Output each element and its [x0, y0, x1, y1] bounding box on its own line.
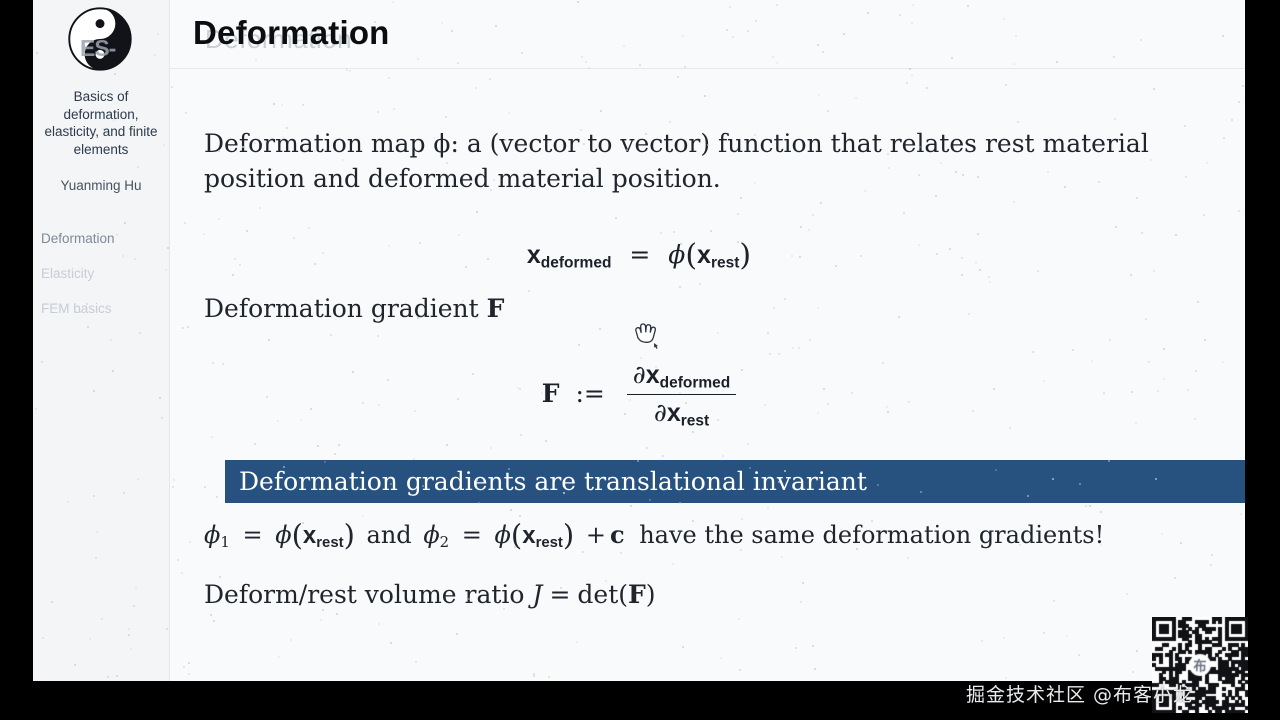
compression-speckle [800, 226, 802, 228]
compression-speckle [1009, 427, 1011, 429]
compression-speckle [377, 335, 379, 337]
compression-speckle [1109, 339, 1111, 341]
invar-eq-1: = [237, 521, 267, 549]
compression-speckle [468, 598, 470, 600]
compression-speckle [645, 133, 647, 135]
compression-speckle [588, 67, 590, 69]
compression-speckle [1161, 533, 1163, 535]
compression-speckle [935, 195, 937, 197]
compression-speckle [83, 52, 85, 54]
compression-speckle [802, 582, 804, 584]
compression-speckle [649, 499, 651, 501]
compression-speckle [378, 623, 380, 625]
compression-speckle [1003, 18, 1005, 20]
compression-speckle [79, 311, 81, 313]
compression-speckle [814, 668, 816, 670]
compression-speckle [582, 551, 584, 553]
highlight-block: Deformation gradients are translational … [225, 460, 1245, 503]
compression-speckle [776, 4, 778, 6]
compression-speckle [213, 620, 215, 622]
compression-speckle [268, 339, 270, 341]
compression-speckle [679, 392, 681, 394]
eq2-lhs: F [542, 379, 560, 408]
eq2-den-operator: ∂ [654, 398, 667, 427]
compression-speckle [378, 404, 380, 406]
compression-speckle [508, 112, 510, 114]
grab-hand-cursor-icon [629, 318, 659, 350]
compression-speckle [1085, 505, 1087, 507]
compression-speckle [96, 531, 98, 533]
compression-speckle [1066, 635, 1068, 637]
compression-speckle [695, 176, 697, 178]
compression-speckle [1242, 85, 1244, 87]
invar-constant-c: c [610, 520, 625, 549]
eq2-num-sub: deformed [660, 374, 731, 391]
gradient-symbol-F: F [487, 294, 505, 323]
compression-speckle [113, 119, 115, 121]
compression-speckle [1206, 162, 1208, 164]
compression-speckle [741, 518, 743, 520]
compression-speckle [773, 307, 775, 309]
compression-speckle [920, 491, 922, 493]
compression-speckle [680, 243, 682, 245]
compression-speckle [352, 371, 354, 373]
compression-speckle [909, 68, 911, 70]
compression-speckle [242, 146, 244, 148]
compression-speckle [812, 645, 814, 647]
compression-speckle [823, 388, 825, 390]
compression-speckle [908, 401, 910, 403]
compression-speckle [637, 460, 639, 462]
compression-speckle [851, 392, 853, 394]
compression-speckle [35, 408, 37, 410]
compression-speckle [1108, 460, 1110, 462]
compression-speckle [1153, 270, 1155, 272]
compression-speckle [1043, 632, 1045, 634]
compression-speckle [682, 35, 684, 37]
compression-speckle [286, 127, 288, 129]
eq2-fraction: ∂xdeformed ∂xrest [627, 360, 736, 431]
compression-speckle [1180, 542, 1182, 544]
compression-speckle [1089, 505, 1091, 507]
compression-speckle [911, 22, 913, 24]
compression-speckle [336, 613, 338, 615]
compression-speckle [754, 134, 756, 136]
map-symbol-1: ϕ [275, 521, 291, 549]
compression-speckle [1174, 577, 1176, 579]
compression-speckle [1100, 544, 1102, 546]
compression-speckle [377, 111, 379, 113]
compression-speckle [882, 362, 884, 364]
compression-speckle [504, 139, 506, 141]
compression-speckle [769, 353, 771, 355]
compression-speckle [419, 242, 421, 244]
compression-speckle [390, 483, 392, 485]
compression-speckle [961, 257, 963, 259]
equation-deformation-map: xdeformed = ϕ(xrest) [33, 238, 1245, 273]
compression-speckle [211, 436, 213, 438]
compression-speckle [188, 662, 190, 664]
compression-speckle [234, 258, 236, 260]
compression-speckle [187, 326, 189, 328]
compression-speckle [446, 162, 448, 164]
compression-speckle [275, 25, 277, 27]
compression-speckle [1163, 378, 1165, 380]
compression-speckle [1223, 137, 1225, 139]
compression-speckle [390, 642, 392, 644]
compression-speckle [177, 559, 179, 561]
compression-speckle [949, 248, 951, 250]
compression-speckle [273, 103, 275, 105]
compression-speckle [961, 274, 963, 276]
compression-speckle [1238, 101, 1240, 103]
compression-speckle [673, 231, 675, 233]
compression-speckle [737, 213, 739, 215]
compression-speckle [130, 648, 132, 650]
compression-speckle [583, 143, 585, 145]
compression-speckle [1053, 600, 1055, 602]
compression-speckle [171, 86, 173, 88]
compression-speckle [51, 601, 53, 603]
compression-speckle [314, 263, 316, 265]
compression-speckle [1098, 181, 1100, 183]
compression-speckle [955, 171, 957, 173]
compression-speckle [580, 179, 582, 181]
compression-speckle [820, 202, 822, 204]
compression-speckle [374, 21, 376, 23]
compression-speckle [808, 229, 810, 231]
compression-speckle [161, 417, 163, 419]
compression-speckle [349, 70, 351, 72]
compression-speckle [541, 392, 543, 394]
compression-speckle [462, 300, 464, 302]
compression-speckle [1032, 351, 1034, 353]
compression-speckle [1131, 391, 1133, 393]
compression-speckle [720, 657, 722, 659]
compression-speckle [157, 33, 159, 35]
block-title: Deformation gradients are translational … [239, 467, 867, 496]
eq2-den-base: x [667, 399, 681, 427]
compression-speckle [578, 344, 580, 346]
compression-speckle [729, 6, 731, 8]
compression-speckle [630, 505, 632, 507]
compression-speckle [93, 495, 95, 497]
compression-speckle [86, 303, 88, 305]
compression-speckle [1037, 270, 1039, 272]
compression-speckle [822, 51, 824, 53]
compression-speckle [302, 104, 304, 106]
compression-speckle [1145, 318, 1147, 320]
eq2-num-base: x [646, 361, 660, 389]
invar-arg-base-1: x [303, 522, 316, 549]
compression-speckle [722, 455, 724, 457]
compression-speckle [1056, 61, 1058, 63]
compression-speckle [520, 434, 522, 436]
compression-speckle [89, 638, 91, 640]
compression-speckle [972, 410, 974, 412]
compression-speckle [843, 33, 845, 35]
compression-speckle [310, 408, 312, 410]
compression-speckle [1078, 654, 1080, 656]
invar-plus: + [582, 521, 610, 549]
eq2-denominator: ∂xrest [627, 394, 736, 430]
compression-speckle [977, 176, 979, 178]
compression-speckle [629, 399, 631, 401]
compression-speckle [918, 244, 920, 246]
compression-speckle [835, 265, 837, 267]
compression-speckle [792, 347, 794, 349]
compression-speckle [1126, 593, 1128, 595]
deck-title: Basics of deformation, elasticity, and f… [38, 88, 164, 158]
compression-speckle [1047, 171, 1049, 173]
compression-speckle [42, 637, 44, 639]
ratio-relation: = [542, 580, 577, 609]
compression-speckle [778, 481, 780, 483]
compression-speckle [417, 317, 419, 319]
compression-speckle [1135, 422, 1137, 424]
compression-speckle [457, 398, 459, 400]
compression-speckle [791, 255, 793, 257]
compression-speckle [266, 396, 268, 398]
compression-speckle [472, 373, 474, 375]
compression-speckle [1064, 186, 1066, 188]
compression-speckle [184, 222, 186, 224]
compression-speckle [102, 128, 104, 130]
compression-speckle [764, 404, 766, 406]
compression-speckle [239, 25, 241, 27]
compression-speckle [646, 447, 648, 449]
compression-speckle [519, 515, 521, 517]
compression-speckle [1019, 544, 1021, 546]
compression-speckle [114, 73, 116, 75]
page-title: Deformation [193, 14, 390, 52]
compression-speckle [784, 470, 786, 472]
compression-speckle [887, 411, 889, 413]
compression-speckle [626, 149, 628, 151]
compression-speckle [478, 502, 480, 504]
compression-speckle [887, 153, 889, 155]
invar-tail-text: have the same deformation gradients! [632, 521, 1104, 549]
compression-speckle [749, 467, 751, 469]
compression-speckle [599, 328, 601, 330]
compression-speckle [528, 290, 530, 292]
compression-speckle [281, 104, 283, 106]
compression-speckle [182, 327, 184, 329]
compression-speckle [87, 326, 89, 328]
compression-speckle [1163, 348, 1165, 350]
compression-speckle [422, 485, 424, 487]
deck-author: Yuanming Hu [38, 178, 164, 193]
compression-speckle [988, 276, 990, 278]
compression-speckle [740, 197, 742, 199]
eq2-numerator: ∂xdeformed [627, 360, 736, 394]
compression-speckle [1153, 88, 1155, 90]
compression-speckle [317, 445, 319, 447]
compression-speckle [732, 36, 734, 38]
compression-speckle [903, 212, 905, 214]
compression-speckle [124, 222, 126, 224]
compression-speckle [886, 406, 888, 408]
compression-speckle [704, 95, 706, 97]
compression-speckle [860, 255, 862, 257]
compression-speckle [489, 78, 491, 80]
compression-speckle [623, 45, 625, 47]
compression-speckle [322, 609, 324, 611]
compression-speckle [1148, 361, 1150, 363]
compression-speckle [754, 182, 756, 184]
compression-speckle [451, 30, 453, 32]
logo-overlay-text: ES- [80, 35, 140, 61]
compression-speckle [457, 62, 459, 64]
eq1-rhs-function: ϕ [668, 240, 685, 269]
compression-speckle [36, 52, 38, 54]
compression-speckle [979, 269, 981, 271]
compression-speckle [795, 647, 797, 649]
compression-speckle [1136, 197, 1138, 199]
compression-speckle [302, 522, 304, 524]
compression-speckle [1185, 176, 1187, 178]
compression-speckle [458, 234, 460, 236]
compression-speckle [116, 234, 118, 236]
compression-speckle [817, 44, 819, 46]
compression-speckle [672, 563, 674, 565]
compression-speckle [216, 496, 218, 498]
compression-speckle [314, 150, 316, 152]
compression-speckle [135, 587, 137, 589]
compression-speckle [139, 332, 141, 334]
compression-speckle [737, 241, 739, 243]
compression-speckle [110, 339, 112, 341]
compression-speckle [137, 166, 139, 168]
compression-speckle [212, 362, 214, 364]
compression-speckle [514, 546, 516, 548]
compression-speckle [1015, 35, 1017, 37]
compression-speckle [103, 93, 105, 95]
compression-speckle [283, 466, 285, 468]
compression-speckle [1187, 389, 1189, 391]
compression-speckle [122, 255, 124, 257]
compression-speckle [899, 14, 901, 16]
compression-speckle [1210, 564, 1212, 566]
compression-speckle [951, 57, 953, 59]
compression-speckle [107, 676, 109, 678]
eq1-lhs-base: x [527, 241, 541, 269]
compression-speckle [940, 162, 942, 164]
compression-speckle [320, 619, 322, 621]
line-deformation-gradient: Deformation gradient F [204, 291, 504, 326]
compression-speckle [334, 453, 336, 455]
compression-speckle [1195, 370, 1197, 372]
compression-speckle [962, 174, 964, 176]
compression-speckle [533, 675, 535, 677]
compression-speckle [968, 313, 970, 315]
compression-speckle [717, 419, 719, 421]
compression-speckle [692, 431, 694, 433]
gradient-line-text: Deformation gradient [204, 294, 487, 323]
compression-speckle [818, 94, 820, 96]
compression-speckle [308, 227, 310, 229]
compression-speckle [560, 587, 562, 589]
compression-speckle [392, 1, 394, 3]
invar-conjunction: and [363, 521, 416, 549]
compression-speckle [1157, 390, 1159, 392]
compression-speckle [1140, 39, 1142, 41]
compression-speckle [864, 190, 866, 192]
phi1-subscript: 1 [220, 533, 229, 551]
compression-speckle [620, 552, 622, 554]
compression-speckle [490, 447, 492, 449]
compression-speckle [163, 144, 165, 146]
compression-speckle [330, 334, 332, 336]
compression-speckle [493, 179, 495, 181]
compression-speckle [545, 440, 547, 442]
compression-speckle [1155, 478, 1157, 480]
compression-speckle [419, 187, 421, 189]
compression-speckle [1113, 56, 1115, 58]
compression-speckle [1184, 125, 1186, 127]
invar-eq-2: = [457, 521, 487, 549]
compression-speckle [682, 646, 684, 648]
ratio-symbol-J: J [532, 580, 542, 609]
compression-speckle [1150, 159, 1152, 161]
compression-speckle [740, 549, 742, 551]
compression-speckle [417, 58, 419, 60]
eq1-relation: = [619, 240, 660, 269]
compression-speckle [393, 596, 395, 598]
compression-speckle [767, 332, 769, 334]
compression-speckle [1222, 35, 1224, 37]
compression-speckle [95, 557, 97, 559]
ratio-det: det [577, 580, 618, 609]
compression-speckle [255, 59, 257, 61]
compression-speckle [166, 628, 168, 630]
compression-speckle [133, 605, 135, 607]
compression-speckle [1079, 483, 1081, 485]
compression-speckle [290, 639, 292, 641]
line-translational-invariance: ϕ1 = ϕ(xrest) and ϕ2 = ϕ(xrest) +c have … [204, 517, 1194, 561]
compression-speckle [1238, 210, 1240, 212]
compression-speckle [726, 29, 728, 31]
compression-speckle [699, 283, 701, 285]
compression-speckle [1114, 118, 1116, 120]
compression-speckle [172, 486, 174, 488]
compression-speckle [1072, 349, 1074, 351]
compression-speckle [433, 137, 435, 139]
compression-speckle [995, 469, 997, 471]
compression-speckle [101, 618, 103, 620]
title-divider [169, 68, 1245, 69]
compression-speckle [669, 121, 671, 123]
compression-speckle [1013, 63, 1015, 65]
compression-speckle [615, 217, 617, 219]
taichi-logo: ES- [64, 7, 136, 73]
compression-speckle [508, 468, 510, 470]
nav-item-fem-basics[interactable]: FEM basics [33, 298, 169, 333]
compression-speckle [210, 614, 212, 616]
compression-speckle [322, 252, 324, 254]
video-player-viewport: ES- Basics of deformation, elasticity, a… [0, 0, 1280, 720]
compression-speckle [277, 420, 279, 422]
compression-speckle [165, 269, 167, 271]
compression-speckle [772, 56, 774, 58]
compression-speckle [278, 656, 280, 658]
compression-speckle [580, 129, 582, 131]
compression-speckle [123, 492, 125, 494]
compression-speckle [989, 281, 991, 283]
compression-speckle [624, 413, 626, 415]
compression-speckle [362, 402, 364, 404]
compression-speckle [977, 233, 979, 235]
